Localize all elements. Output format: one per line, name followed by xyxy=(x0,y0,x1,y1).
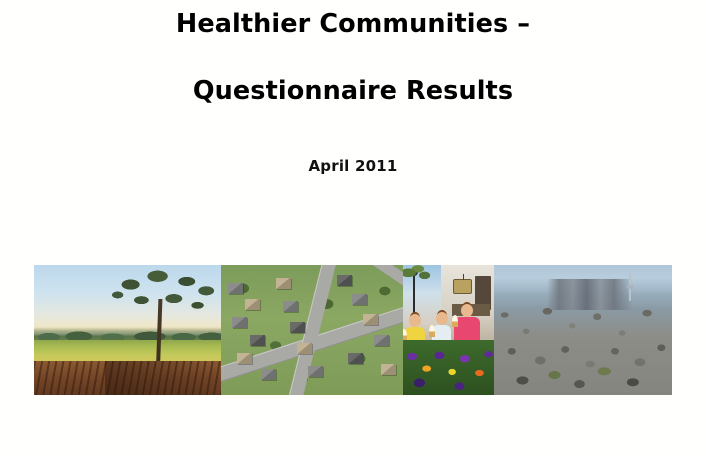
photo-city-skyline-caption: Aerial view of a dense city skyline with… xyxy=(494,265,495,266)
suburb-house xyxy=(237,353,252,364)
suburb-houses xyxy=(221,265,403,395)
suburb-house xyxy=(250,335,265,346)
tree-shadow xyxy=(105,361,221,395)
city-observation-tower xyxy=(629,273,631,302)
photo-rural-farmland: Rural farmland with a lone tree, green f… xyxy=(34,265,221,395)
cover-photo-banner: Rural farmland with a lone tree, green f… xyxy=(34,265,672,395)
person-head xyxy=(461,304,473,317)
person-head xyxy=(409,314,421,327)
person-head xyxy=(436,312,448,325)
ice-cream-cone xyxy=(452,315,458,327)
suburb-house xyxy=(374,335,389,346)
suburb-house xyxy=(348,353,363,364)
suburb-house xyxy=(337,275,352,286)
cover-title-line-1: Healthier Communities – xyxy=(0,5,706,44)
tree-canopy xyxy=(109,270,217,322)
cover-title-line-2: Questionnaire Results xyxy=(0,72,706,111)
flower-planter xyxy=(403,340,494,395)
suburb-house xyxy=(381,364,396,375)
suburb-house xyxy=(352,294,367,305)
suburb-house xyxy=(297,343,312,354)
suburb-house xyxy=(276,278,291,289)
ice-cream-cone xyxy=(429,325,435,337)
photo-main-street-people: Three girls eating ice cream cones on a … xyxy=(403,265,494,395)
suburb-house xyxy=(363,314,378,325)
shop-hanging-sign xyxy=(453,279,472,294)
photo-suburban-aerial: Aerial view of a suburban subdivision wi… xyxy=(221,265,403,395)
suburb-house xyxy=(283,301,298,312)
suburb-house xyxy=(232,317,247,328)
street-tree-foliage xyxy=(403,265,430,291)
cover-date: April 2011 xyxy=(0,157,706,175)
photo-city-skyline: Aerial view of a dense city skyline with… xyxy=(494,265,672,395)
document-cover-page: Healthier Communities – Questionnaire Re… xyxy=(0,0,706,456)
cover-title-block: Healthier Communities – xyxy=(0,0,706,44)
suburb-house xyxy=(245,299,260,310)
suburb-house xyxy=(308,366,323,377)
suburb-house xyxy=(261,369,276,380)
suburb-house xyxy=(228,283,243,294)
farm-field xyxy=(34,340,221,361)
photo-rural-farmland-caption: Rural farmland with a lone tree, green f… xyxy=(34,265,35,266)
city-urban-sprawl xyxy=(494,304,672,395)
suburb-house xyxy=(290,322,305,333)
